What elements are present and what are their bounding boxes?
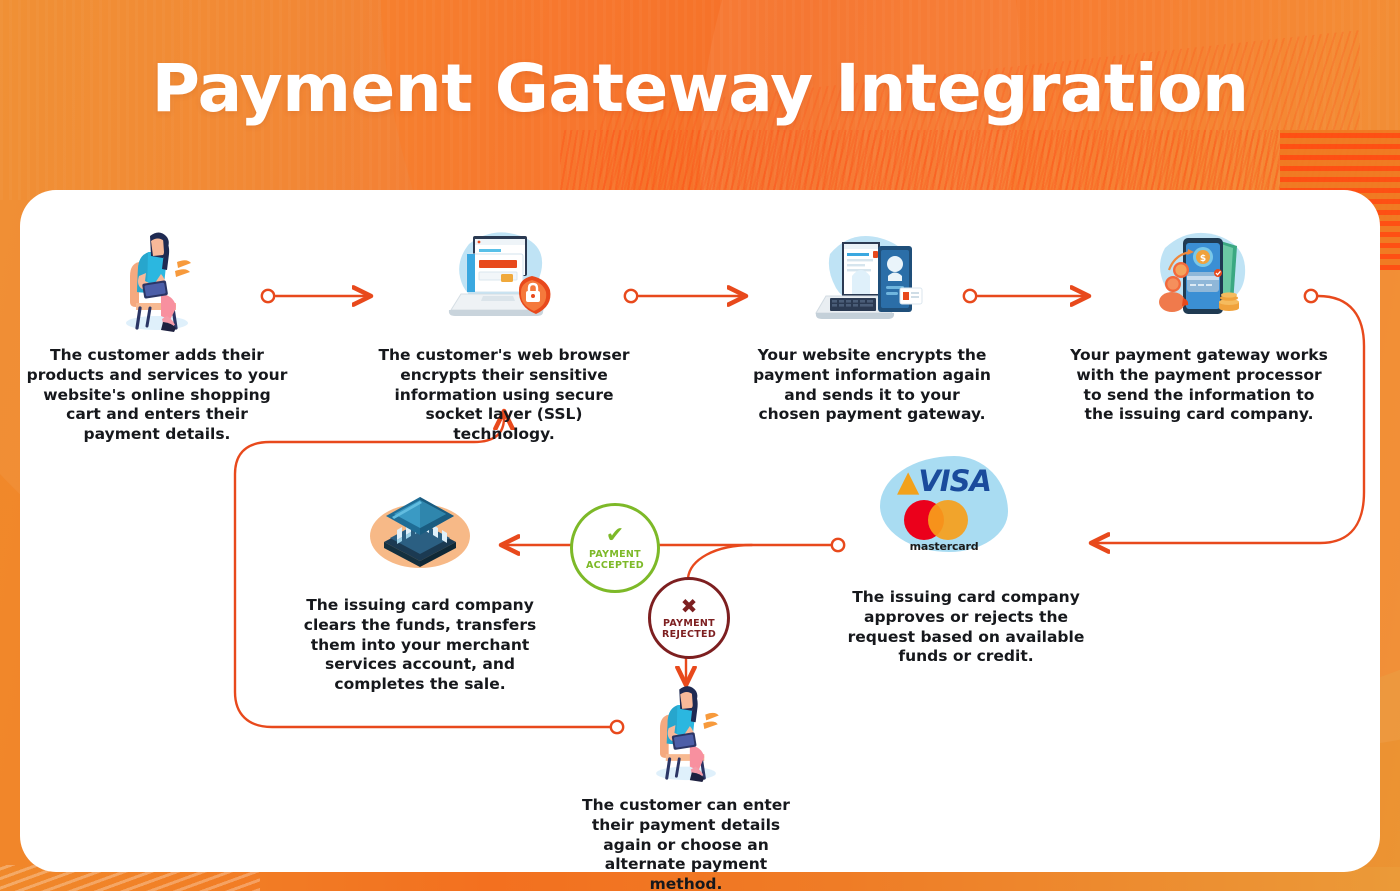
rejected-label-line1: PAYMENT — [663, 619, 715, 630]
page-title: Payment Gateway Integration — [0, 50, 1400, 127]
step-5-caption: The issuing card company clears the fund… — [294, 596, 546, 695]
laptop-ssl-shield-lock-icon — [378, 222, 630, 332]
mobile-payment-coins-icon: $ — [1068, 222, 1330, 332]
cross-mark-icon: ✖ — [681, 596, 698, 616]
step-4-caption: Your payment gateway works with the paym… — [1068, 346, 1330, 425]
person-with-laptop-icon — [26, 222, 288, 332]
mastercard-wordmark: mastercard — [888, 540, 1000, 553]
check-mark-icon: ✔ — [606, 525, 624, 547]
step-2: The customer's web browser encrypts thei… — [378, 222, 630, 445]
accepted-label-line2: ACCEPTED — [586, 561, 644, 572]
accepted-label-line1: PAYMENT — [589, 550, 641, 561]
step-1: The customer adds their products and ser… — [26, 222, 288, 445]
step-6-caption: The issuing card company approves or rej… — [846, 588, 1086, 667]
mastercard-circles-icon — [904, 500, 984, 540]
step-3-caption: Your website encrypts the payment inform… — [752, 346, 992, 425]
visa-tick-icon: ▲ — [897, 464, 918, 498]
bank-building-icon — [294, 472, 546, 582]
mastercard-orange-circle — [928, 500, 968, 540]
visa-wordmark: VISA — [918, 464, 991, 498]
status-badge-payment-rejected: ✖ PAYMENT REJECTED — [648, 577, 730, 659]
card-brand-logos: ▲VISA mastercard — [880, 452, 1008, 560]
step-5: The issuing card company clears the fund… — [294, 472, 546, 695]
visa-logo: ▲VISA — [894, 464, 994, 498]
step-2-caption: The customer's web browser encrypts thei… — [378, 346, 630, 445]
step-7-caption: The customer can enter their payment det… — [570, 796, 802, 891]
status-badge-payment-accepted: ✔ PAYMENT ACCEPTED — [570, 503, 660, 593]
rejected-label-line2: REJECTED — [662, 630, 716, 641]
svg-text:$: $ — [1200, 254, 1206, 264]
infographic-canvas: Payment Gateway Integration — [0, 0, 1400, 891]
step-4: $ — [1068, 222, 1330, 425]
step-1-caption: The customer adds their products and ser… — [26, 346, 288, 445]
person-with-laptop-icon — [570, 672, 802, 782]
laptop-phone-encryption-icon — [752, 222, 992, 332]
step-3: Your website encrypts the payment inform… — [752, 222, 992, 425]
step-7: The customer can enter their payment det… — [570, 672, 802, 891]
